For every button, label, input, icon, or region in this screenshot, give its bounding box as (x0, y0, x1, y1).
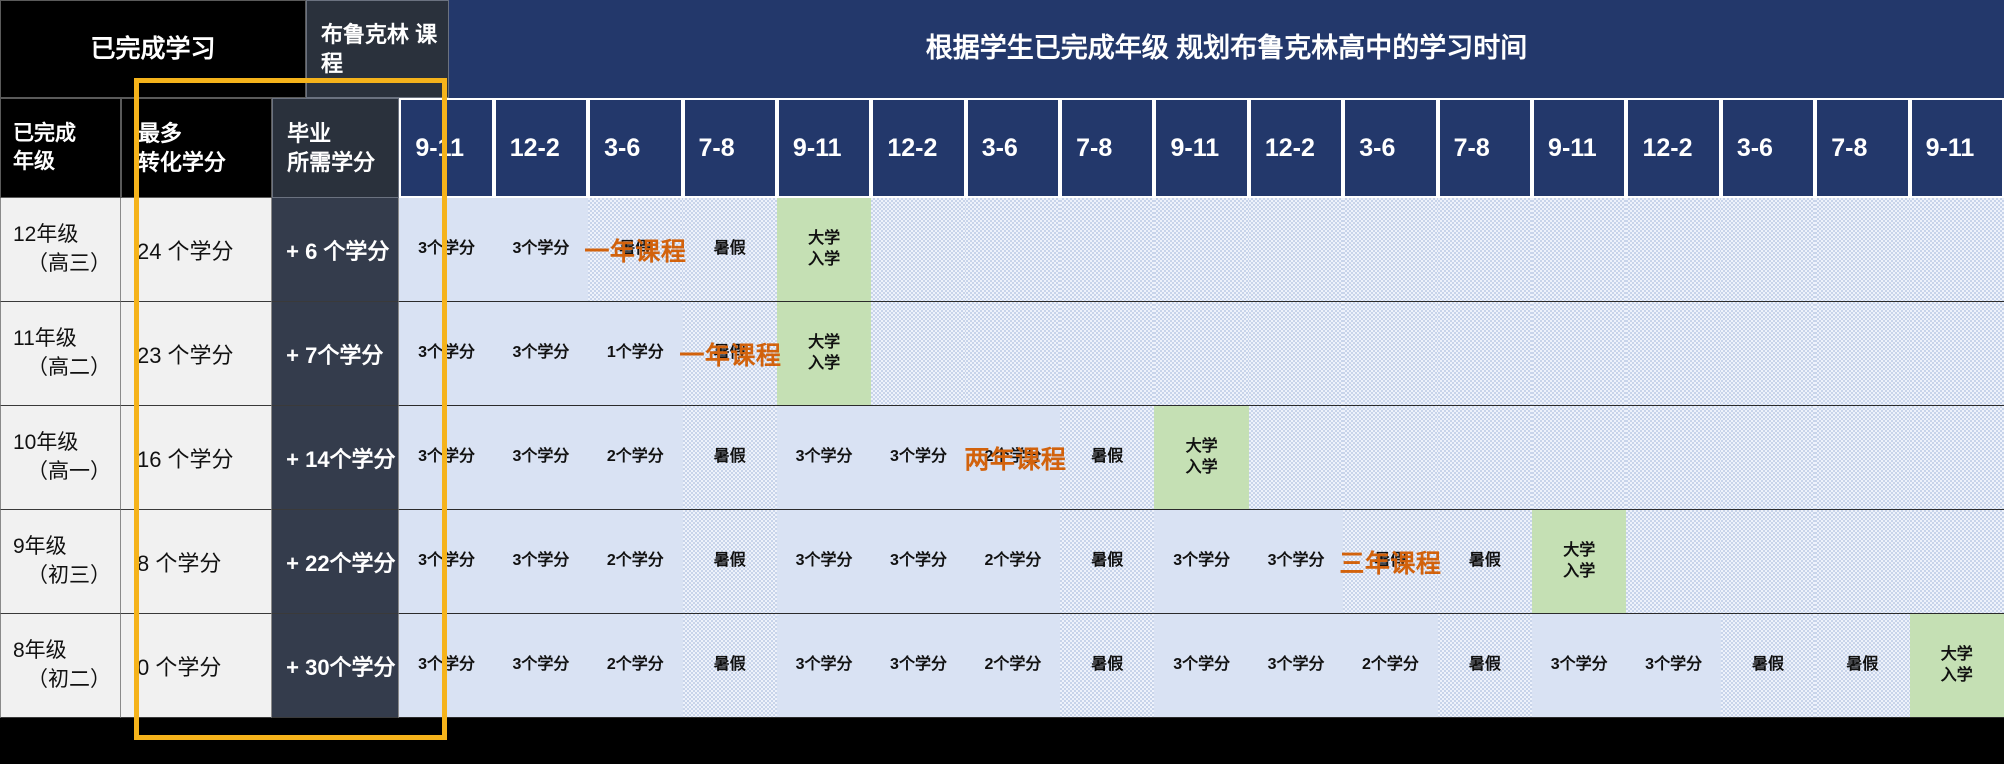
timeline-cell-label: 3个学分 (1268, 655, 1325, 675)
timeline-cell-label: 3个学分 (418, 655, 475, 675)
max-transfer-cell: 0 个学分 (121, 614, 272, 718)
timeline-cell-empty (871, 302, 965, 405)
timeline-cell-study: 3个学分 (494, 302, 588, 405)
grade-cell-line2: （高一） (13, 458, 120, 487)
timeline-cell-empty (1721, 406, 1815, 509)
timeline-track: 3个学分3个学分1个学分暑假大学入学一年课程 (399, 302, 2004, 406)
college-enroll-line2: 入学 (1186, 458, 1218, 478)
header-main-title-line1: 根据学生已完成年级 (926, 33, 1169, 63)
timeline-cell-empty (966, 198, 1060, 301)
timeline-cell-college: 大学入学 (1154, 406, 1248, 509)
college-enroll-line2: 入学 (808, 250, 840, 270)
timeline-cell-study: 3个学分 (399, 406, 493, 509)
header-brooklyn-course-line1: 布鲁克林 (321, 22, 409, 47)
timeline-cell-label: 3个学分 (1173, 551, 1230, 571)
timeline-header-cell: 7-8 (1438, 98, 1532, 198)
timeline-cell-study: 2个学分 (588, 614, 682, 717)
grade-cell-line1: 11年级 (13, 325, 120, 354)
timeline-cell-study: 3个学分 (871, 614, 965, 717)
timeline-cell-empty (1721, 302, 1815, 405)
grade-cell-line2: （高二） (13, 354, 120, 383)
header-max-transfer: 最多 转化学分 (121, 98, 272, 198)
max-transfer-cell: 16 个学分 (121, 406, 272, 510)
timeline-cell-study: 2个学分 (588, 406, 682, 509)
timeline-cell-summer: 暑假 (1815, 614, 1909, 717)
college-enroll-line2: 入学 (1941, 666, 1973, 686)
timeline-cell-label: 2个学分 (984, 447, 1041, 467)
timeline-header-cell: 3-6 (1343, 98, 1437, 198)
timeline-cell-study: 3个学分 (1154, 510, 1248, 613)
needed-credits-cell: + 7个学分 (272, 302, 399, 406)
timeline-cell-study: 3个学分 (494, 198, 588, 301)
timeline-header-cell: 3-6 (588, 98, 682, 198)
timeline-cell-summer: 暑假 (1438, 614, 1532, 717)
timeline-cell-empty (1532, 198, 1626, 301)
timeline-cell-college: 大学入学 (1532, 510, 1626, 613)
header-max-transfer-line2: 转化学分 (138, 148, 271, 177)
timeline-cell-label: 2个学分 (1362, 655, 1419, 675)
timeline-cell-label: 2个学分 (984, 655, 1041, 675)
timeline-track: 3个学分3个学分2个学分暑假3个学分3个学分2个学分暑假3个学分3个学分暑假暑假… (399, 510, 2004, 614)
timeline-cell-empty (1532, 302, 1626, 405)
header-needed-credits-line2: 所需学分 (287, 148, 398, 177)
timeline-cell-summer: 暑假 (683, 302, 777, 405)
needed-credits-cell: + 14个学分 (272, 406, 399, 510)
timeline-header-cell: 12-2 (871, 98, 965, 198)
timeline-cell-empty (1815, 302, 1909, 405)
timeline-cell-study: 3个学分 (1154, 614, 1248, 717)
header-max-transfer-line1: 最多 (138, 119, 271, 148)
timeline-cell-study: 3个学分 (399, 614, 493, 717)
timeline-cell-empty (871, 198, 965, 301)
college-enroll-line1: 大学 (1563, 541, 1595, 561)
timeline-cell-study: 3个学分 (777, 406, 871, 509)
timeline-cell-study: 3个学分 (1626, 614, 1720, 717)
timeline-cell-label: 3个学分 (796, 447, 853, 467)
timeline-cell-label: 暑假 (714, 343, 746, 363)
timeline-cell-study: 3个学分 (871, 510, 965, 613)
timeline-cell-study: 3个学分 (399, 302, 493, 405)
timeline-cell-empty (1343, 302, 1437, 405)
timeline-cell-study: 3个学分 (871, 406, 965, 509)
timeline-cell-study: 3个学分 (1249, 614, 1343, 717)
grade-cell: 8年级（初二） (0, 614, 121, 718)
timeline-header-cell: 7-8 (683, 98, 777, 198)
schedule-body: 12年级（高三）24 个学分+ 6 个学分3个学分3个学分暑假暑假大学入学一年课… (0, 198, 2004, 718)
grade-cell: 12年级（高三） (0, 198, 121, 302)
timeline-cell-label: 3个学分 (512, 447, 569, 467)
timeline-cell-college: 大学入学 (1910, 614, 2004, 717)
timeline-cell-study: 3个学分 (494, 614, 588, 717)
grade-cell: 11年级（高二） (0, 302, 121, 406)
timeline-cell-college: 大学入学 (777, 302, 871, 405)
timeline-track: 3个学分3个学分暑假暑假大学入学一年课程 (399, 198, 2004, 302)
timeline-cell-label: 3个学分 (1551, 655, 1608, 675)
timeline-cell-summer: 暑假 (683, 198, 777, 301)
grade-cell-line1: 9年级 (13, 533, 120, 562)
timeline-header-cell: 7-8 (1815, 98, 1909, 198)
timeline-cell-study: 2个学分 (1343, 614, 1437, 717)
timeline-cell-summer: 暑假 (588, 198, 682, 301)
timeline-cell-study: 2个学分 (588, 510, 682, 613)
timeline-cell-study: 3个学分 (494, 406, 588, 509)
timeline-cell-study: 2个学分 (966, 614, 1060, 717)
college-enroll-line1: 大学 (1941, 645, 1973, 665)
needed-credits-cell: + 30个学分 (272, 614, 399, 718)
timeline-cell-empty (1910, 198, 2004, 301)
timeline-cell-summer: 暑假 (683, 406, 777, 509)
footer-bar (0, 731, 2004, 764)
timeline-header-cell: 9-11 (1910, 98, 2004, 198)
college-enroll-line1: 大学 (808, 229, 840, 249)
header-sub-band: 已完成 年级 最多 转化学分 毕业 所需学分 9-1112-23-67-89-1… (0, 98, 2004, 198)
timeline-cell-label: 暑假 (1091, 447, 1123, 467)
timeline-cell-empty (1910, 510, 2004, 613)
header-completed-grade-line1: 已完成 (13, 120, 120, 148)
max-transfer-cell: 23 个学分 (121, 302, 272, 406)
timeline-header-cell: 7-8 (1060, 98, 1154, 198)
timeline-cell-empty (1815, 406, 1909, 509)
timeline-cell-study: 2个学分 (966, 510, 1060, 613)
timeline-cell-college: 大学入学 (777, 198, 871, 301)
timeline-cell-label: 3个学分 (512, 239, 569, 259)
timeline-track: 3个学分3个学分2个学分暑假3个学分3个学分2个学分暑假大学入学两年课程 (399, 406, 2004, 510)
timeline-cell-empty (1815, 198, 1909, 301)
timeline-cell-empty (1438, 302, 1532, 405)
timeline-cell-label: 3个学分 (890, 551, 947, 571)
timeline-cell-label: 3个学分 (890, 447, 947, 467)
timeline-cell-summer: 暑假 (1438, 510, 1532, 613)
timeline-cell-empty (1154, 198, 1248, 301)
timeline-cell-empty (1438, 406, 1532, 509)
timeline-header-cell: 3-6 (966, 98, 1060, 198)
timeline-cell-empty (1249, 406, 1343, 509)
timeline-cell-empty (1532, 406, 1626, 509)
timeline-cell-label: 3个学分 (512, 343, 569, 363)
timeline-cell-study: 2个学分 (966, 406, 1060, 509)
timeline-cell-summer: 暑假 (1060, 406, 1154, 509)
timeline-cell-empty (1721, 198, 1815, 301)
timeline-cell-study: 3个学分 (399, 510, 493, 613)
timeline-cell-label: 暑假 (1091, 551, 1123, 571)
timeline-cell-empty (1815, 510, 1909, 613)
timeline-cell-label: 暑假 (714, 655, 746, 675)
timeline-cell-empty (1060, 302, 1154, 405)
timeline-header-cell: 9-11 (1154, 98, 1248, 198)
timeline-cell-label: 暑假 (1469, 655, 1501, 675)
timeline-cell-empty (1910, 302, 2004, 405)
timeline-cell-label: 3个学分 (796, 551, 853, 571)
timeline-cell-label: 3个学分 (418, 239, 475, 259)
table-row: 9年级（初三）8 个学分+ 22个学分3个学分3个学分2个学分暑假3个学分3个学… (0, 510, 2004, 614)
timeline-cell-label: 暑假 (714, 551, 746, 571)
timeline-cell-label: 2个学分 (607, 655, 664, 675)
grade-cell-line1: 8年级 (13, 637, 120, 666)
timeline-cell-empty (1910, 406, 2004, 509)
timeline-cell-label: 暑假 (1091, 655, 1123, 675)
timeline-cell-empty (1343, 198, 1437, 301)
timeline-cell-label: 暑假 (714, 447, 746, 467)
timeline-cell-label: 3个学分 (1268, 551, 1325, 571)
timeline-header-row: 9-1112-23-67-89-1112-23-67-89-1112-23-67… (399, 98, 2004, 198)
timeline-cell-label: 暑假 (1846, 655, 1878, 675)
grade-cell: 9年级（初三） (0, 510, 121, 614)
timeline-cell-label: 3个学分 (512, 655, 569, 675)
table-row: 10年级（高一）16 个学分+ 14个学分3个学分3个学分2个学分暑假3个学分3… (0, 406, 2004, 510)
timeline-cell-label: 3个学分 (1173, 655, 1230, 675)
timeline-cell-study: 3个学分 (399, 198, 493, 301)
timeline-cell-empty (1249, 198, 1343, 301)
timeline-cell-study: 3个学分 (1532, 614, 1626, 717)
timeline-cell-label: 3个学分 (418, 551, 475, 571)
timeline-cell-study: 3个学分 (777, 614, 871, 717)
needed-credits-cell: + 6 个学分 (272, 198, 399, 302)
header-completed-grade: 已完成 年级 (0, 98, 121, 198)
timeline-cell-label: 暑假 (1752, 655, 1784, 675)
timeline-cell-empty (1626, 406, 1720, 509)
timeline-header-cell: 9-11 (1532, 98, 1626, 198)
header-brooklyn-course: 布鲁克林 课程 (306, 0, 449, 98)
header-needed-credits-line1: 毕业 (287, 119, 398, 148)
timeline-cell-summer: 暑假 (1721, 614, 1815, 717)
timeline-cell-empty (1249, 302, 1343, 405)
timeline-cell-empty (1154, 302, 1248, 405)
timeline-cell-label: 暑假 (1469, 551, 1501, 571)
timeline-cell-empty (1438, 198, 1532, 301)
needed-credits-cell: + 22个学分 (272, 510, 399, 614)
timeline-cell-summer: 暑假 (683, 510, 777, 613)
timeline-track: 3个学分3个学分2个学分暑假3个学分3个学分2个学分暑假3个学分3个学分2个学分… (399, 614, 2004, 718)
timeline-cell-empty (1343, 406, 1437, 509)
timeline-cell-label: 暑假 (1374, 551, 1406, 571)
timeline-cell-empty (966, 302, 1060, 405)
timeline-cell-study: 3个学分 (494, 510, 588, 613)
header-needed-credits: 毕业 所需学分 (272, 98, 399, 198)
grade-cell-line2: （初三） (13, 562, 120, 591)
table-row: 8年级（初二）0 个学分+ 30个学分3个学分3个学分2个学分暑假3个学分3个学… (0, 614, 2004, 718)
timeline-header-cell: 9-11 (399, 98, 493, 198)
timeline-cell-empty (1721, 510, 1815, 613)
timeline-header-cell: 3-6 (1721, 98, 1815, 198)
max-transfer-cell: 8 个学分 (121, 510, 272, 614)
header-top-band: 已完成学习 布鲁克林 课程 根据学生已完成年级 规划布鲁克林高中的学习时间 (0, 0, 2004, 98)
timeline-cell-label: 2个学分 (984, 551, 1041, 571)
grade-cell-line1: 12年级 (13, 221, 120, 250)
timeline-cell-empty (1626, 302, 1720, 405)
timeline-header-cell: 9-11 (777, 98, 871, 198)
timeline-cell-label: 1个学分 (607, 343, 664, 363)
table-row: 11年级（高二）23 个学分+ 7个学分3个学分3个学分1个学分暑假大学入学一年… (0, 302, 2004, 406)
college-enroll-line2: 入学 (1563, 562, 1595, 582)
timeline-cell-label: 2个学分 (607, 551, 664, 571)
grade-cell-line2: （高三） (13, 250, 120, 279)
grade-cell: 10年级（高一） (0, 406, 121, 510)
table-row: 12年级（高三）24 个学分+ 6 个学分3个学分3个学分暑假暑假大学入学一年课… (0, 198, 2004, 302)
header-completed-grade-line2: 年级 (13, 148, 120, 176)
grade-cell-line1: 10年级 (13, 429, 120, 458)
timeline-cell-study: 3个学分 (1249, 510, 1343, 613)
timeline-header-cell: 12-2 (1249, 98, 1343, 198)
timeline-cell-summer: 暑假 (1343, 510, 1437, 613)
timeline-cell-label: 2个学分 (607, 447, 664, 467)
header-completed-study: 已完成学习 (0, 0, 306, 98)
timeline-cell-empty (1626, 510, 1720, 613)
timeline-cell-study: 3个学分 (777, 510, 871, 613)
timeline-cell-label: 3个学分 (796, 655, 853, 675)
college-enroll-line1: 大学 (808, 333, 840, 353)
schedule-chart-root: 已完成学习 布鲁克林 课程 根据学生已完成年级 规划布鲁克林高中的学习时间 已完… (0, 0, 2004, 764)
timeline-cell-label: 3个学分 (418, 447, 475, 467)
college-enroll-line2: 入学 (808, 354, 840, 374)
timeline-cell-summer: 暑假 (1060, 614, 1154, 717)
timeline-header-cell: 12-2 (1626, 98, 1720, 198)
timeline-cell-summer: 暑假 (683, 614, 777, 717)
timeline-cell-summer: 暑假 (1060, 510, 1154, 613)
timeline-cell-empty (1060, 198, 1154, 301)
grade-cell-line2: （初二） (13, 666, 120, 695)
timeline-cell-study: 1个学分 (588, 302, 682, 405)
header-main-title: 根据学生已完成年级 规划布鲁克林高中的学习时间 (449, 0, 2004, 98)
max-transfer-cell: 24 个学分 (121, 198, 272, 302)
college-enroll-line1: 大学 (1186, 437, 1218, 457)
timeline-cell-label: 3个学分 (512, 551, 569, 571)
timeline-header-cell: 12-2 (494, 98, 588, 198)
timeline-cell-label: 暑假 (619, 239, 651, 259)
timeline-cell-label: 3个学分 (890, 655, 947, 675)
timeline-cell-empty (1626, 198, 1720, 301)
header-main-title-line2: 规划布鲁克林高中的学习时间 (1176, 33, 1527, 63)
header-completed-study-label: 已完成学习 (90, 33, 215, 66)
timeline-cell-label: 暑假 (714, 239, 746, 259)
timeline-cell-label: 3个学分 (418, 343, 475, 363)
timeline-cell-label: 3个学分 (1645, 655, 1702, 675)
